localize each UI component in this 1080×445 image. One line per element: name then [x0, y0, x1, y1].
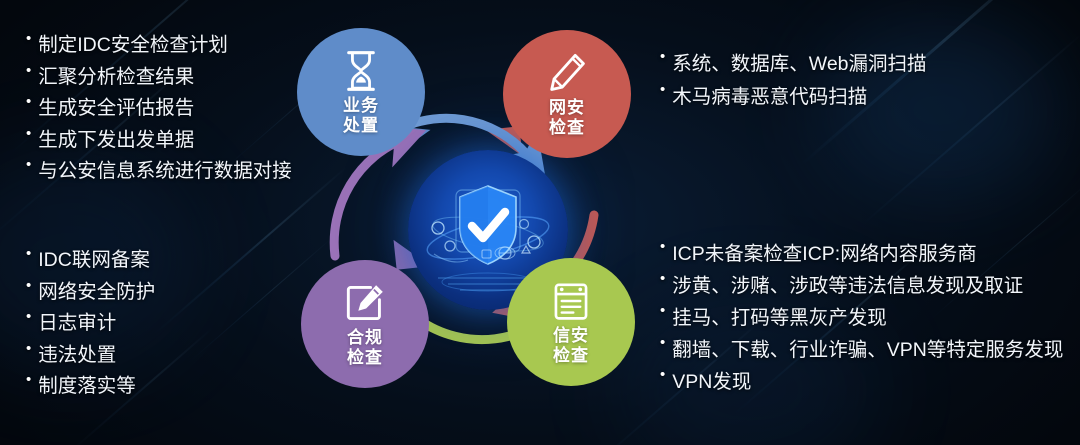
list-item: •系统、数据库、Web漏洞扫描	[660, 48, 927, 81]
bullet-icon: •	[26, 246, 31, 261]
node-network-security-check[interactable]: 网安 检查	[503, 30, 631, 158]
bullet-icon: •	[660, 82, 665, 97]
bullet-icon: •	[660, 303, 665, 318]
list-item-label: 日志审计	[38, 308, 116, 340]
cycle-diagram: 业务 处置 网安 检查	[275, 10, 695, 435]
list-item-label: 翻墙、下载、行业诈骗、VPN等特定服务发现	[672, 334, 1063, 366]
list-item: •VPN发现	[660, 366, 1063, 398]
list-item: •违法处置	[26, 340, 155, 372]
edit-square-icon	[345, 281, 385, 325]
list-item-label: 系统、数据库、Web漏洞扫描	[672, 48, 926, 81]
bullet-icon: •	[26, 94, 31, 109]
list-item: •日志审计	[26, 308, 155, 340]
bullet-icon: •	[26, 31, 31, 46]
bullet-list-bottom-left: •IDC联网备案 •网络安全防护 •日志审计 •违法处置 •制度落实等	[26, 245, 155, 403]
bullet-icon: •	[660, 271, 665, 286]
bullet-list-top-left: •制定IDC安全检查计划 •汇聚分析检查结果 •生成安全评估报告 •生成下发出发…	[26, 30, 292, 188]
list-item: •生成下发出发单据	[26, 125, 292, 157]
document-list-icon	[551, 279, 591, 323]
list-item-label: 生成下发出发单据	[38, 125, 194, 157]
node-label-line2: 检查	[347, 348, 383, 368]
arrow-purple-to-blue	[334, 138, 406, 256]
list-item: •挂马、打码等黑灰产发现	[660, 302, 1063, 334]
bullet-icon: •	[660, 367, 665, 382]
list-item-label: 生成安全评估报告	[38, 93, 194, 125]
list-item-label: 制度落实等	[38, 371, 136, 403]
list-item-label: 汇聚分析检查结果	[38, 62, 194, 94]
list-item: •汇聚分析检查结果	[26, 62, 292, 94]
list-item: •制定IDC安全检查计划	[26, 30, 292, 62]
pencil-icon	[547, 51, 587, 95]
list-item-label: IDC联网备案	[38, 245, 150, 277]
list-item: •木马病毒恶意代码扫描	[660, 81, 927, 114]
list-item: •ICP未备案检查ICP:网络内容服务商	[660, 238, 1063, 270]
node-label-line2: 检查	[549, 118, 585, 138]
node-label: 合规 检查	[347, 328, 383, 368]
list-item-label: 木马病毒恶意代码扫描	[672, 81, 867, 114]
node-business-disposal[interactable]: 业务 处置	[297, 28, 425, 156]
bullet-list-top-right: •系统、数据库、Web漏洞扫描 •木马病毒恶意代码扫描	[660, 48, 927, 114]
list-item-label: VPN发现	[672, 366, 751, 398]
list-item: •IDC联网备案	[26, 245, 155, 277]
list-item: •生成安全评估报告	[26, 93, 292, 125]
node-label-line2: 检查	[553, 346, 589, 366]
bullet-list-bottom-right: •ICP未备案检查ICP:网络内容服务商 •涉黄、涉赌、涉政等违法信息发现及取证…	[660, 238, 1063, 398]
bullet-icon: •	[26, 157, 31, 172]
list-item: •翻墙、下载、行业诈骗、VPN等特定服务发现	[660, 334, 1063, 366]
node-label: 业务 处置	[343, 96, 379, 136]
node-label: 网安 检查	[549, 98, 585, 138]
list-item-label: 挂马、打码等黑灰产发现	[672, 302, 887, 334]
node-label: 信安 检查	[553, 326, 589, 366]
list-item-label: 违法处置	[38, 340, 116, 372]
bullet-icon: •	[26, 309, 31, 324]
bullet-icon: •	[26, 278, 31, 293]
node-label-line1: 业务	[343, 96, 379, 116]
bullet-icon: •	[26, 372, 31, 387]
list-item-label: ICP未备案检查ICP:网络内容服务商	[672, 238, 976, 270]
node-label-line2: 处置	[343, 116, 379, 136]
list-item: •与公安信息系统进行数据对接	[26, 156, 292, 188]
node-label-line1: 信安	[553, 326, 589, 346]
bullet-icon: •	[26, 341, 31, 356]
list-item: •制度落实等	[26, 371, 155, 403]
bullet-icon: •	[26, 126, 31, 141]
bullet-icon: •	[26, 63, 31, 78]
list-item: •涉黄、涉赌、涉政等违法信息发现及取证	[660, 270, 1063, 302]
node-label-line1: 合规	[347, 328, 383, 348]
slide-canvas: •制定IDC安全检查计划 •汇聚分析检查结果 •生成安全评估报告 •生成下发出发…	[0, 0, 1080, 445]
list-item-label: 涉黄、涉赌、涉政等违法信息发现及取证	[672, 270, 1023, 302]
list-item-label: 与公安信息系统进行数据对接	[38, 156, 292, 188]
bullet-icon: •	[660, 49, 665, 64]
list-item-label: 制定IDC安全检查计划	[38, 30, 228, 62]
node-information-security-check[interactable]: 信安 检查	[507, 258, 635, 386]
list-item-label: 网络安全防护	[38, 277, 155, 309]
node-compliance-check[interactable]: 合规 检查	[301, 260, 429, 388]
list-item: •网络安全防护	[26, 277, 155, 309]
node-label-line1: 网安	[549, 98, 585, 118]
hourglass-icon	[341, 49, 381, 93]
bullet-icon: •	[660, 239, 665, 254]
bullet-icon: •	[660, 335, 665, 350]
